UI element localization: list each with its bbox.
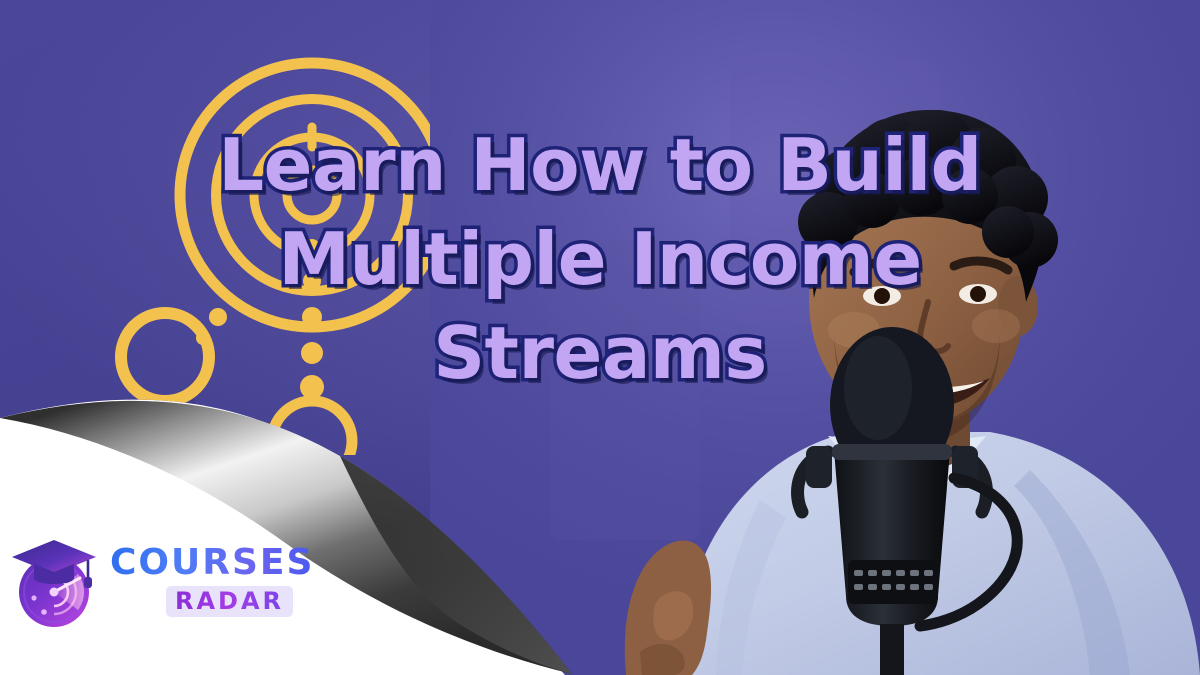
gold-small-ring	[121, 313, 209, 401]
logo-radar-text: RADAR	[175, 588, 284, 614]
gold-core-ring	[287, 170, 337, 220]
graduation-cap-radar-icon	[8, 530, 100, 630]
presenter-photo	[430, 0, 1200, 675]
gold-bottom-ring	[272, 401, 352, 455]
gold-inner-ring	[254, 137, 370, 253]
logo-radar-pill: RADAR	[166, 586, 293, 617]
logo-wordmark: COURSES RADAR	[110, 544, 314, 617]
video-thumbnail: Learn How to Build Multiple Income Strea…	[0, 0, 1200, 675]
logo-courses-text: COURSES	[110, 544, 314, 582]
gold-dotted-connector-vertical	[300, 239, 324, 399]
courses-radar-logo[interactable]: COURSES RADAR	[8, 525, 278, 635]
